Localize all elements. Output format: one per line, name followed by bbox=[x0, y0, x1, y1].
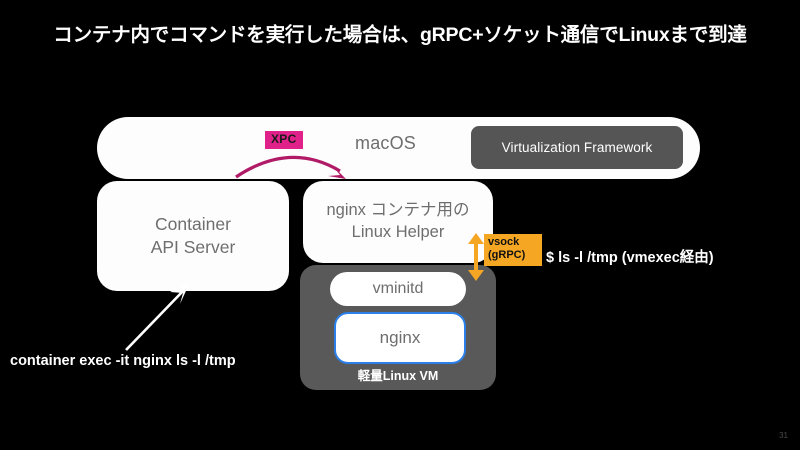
linux-helper-line1: nginx コンテナ用の bbox=[326, 201, 469, 219]
vsock-double-arrow-icon bbox=[466, 233, 486, 281]
linux-helper-line2: Linux Helper bbox=[352, 223, 445, 241]
linux-helper-box: nginx コンテナ用の Linux Helper bbox=[303, 181, 493, 263]
host-command-arrow-icon bbox=[120, 282, 200, 354]
vsock-badge-line1: vsock bbox=[488, 236, 519, 248]
vsock-badge-line2: (gRPC) bbox=[488, 249, 525, 261]
linux-vm-label: 軽量Linux VM bbox=[300, 365, 496, 384]
slide-canvas: コンテナ内でコマンドを実行した場合は、gRPC+ソケット通信でLinuxまで到達… bbox=[0, 0, 800, 450]
page-number: 31 bbox=[779, 431, 788, 440]
vsock-badge: vsock (gRPC) bbox=[484, 234, 542, 266]
api-server-line2: API Server bbox=[151, 237, 236, 257]
guest-command-text: $ ls -l /tmp (vmexec経由) bbox=[546, 246, 714, 267]
container-api-server-box: Container API Server bbox=[97, 181, 289, 291]
vm-process-nginx: nginx bbox=[334, 312, 466, 364]
virtualization-framework-box: Virtualization Framework bbox=[471, 126, 683, 169]
page-title: コンテナ内でコマンドを実行した場合は、gRPC+ソケット通信でLinuxまで到達 bbox=[0, 18, 800, 47]
vm-process-vminitd: vminitd bbox=[330, 272, 466, 306]
xpc-badge: XPC bbox=[265, 131, 303, 149]
host-command-text: container exec -it nginx ls -l /tmp bbox=[10, 353, 236, 369]
api-server-line1: Container bbox=[155, 214, 231, 234]
